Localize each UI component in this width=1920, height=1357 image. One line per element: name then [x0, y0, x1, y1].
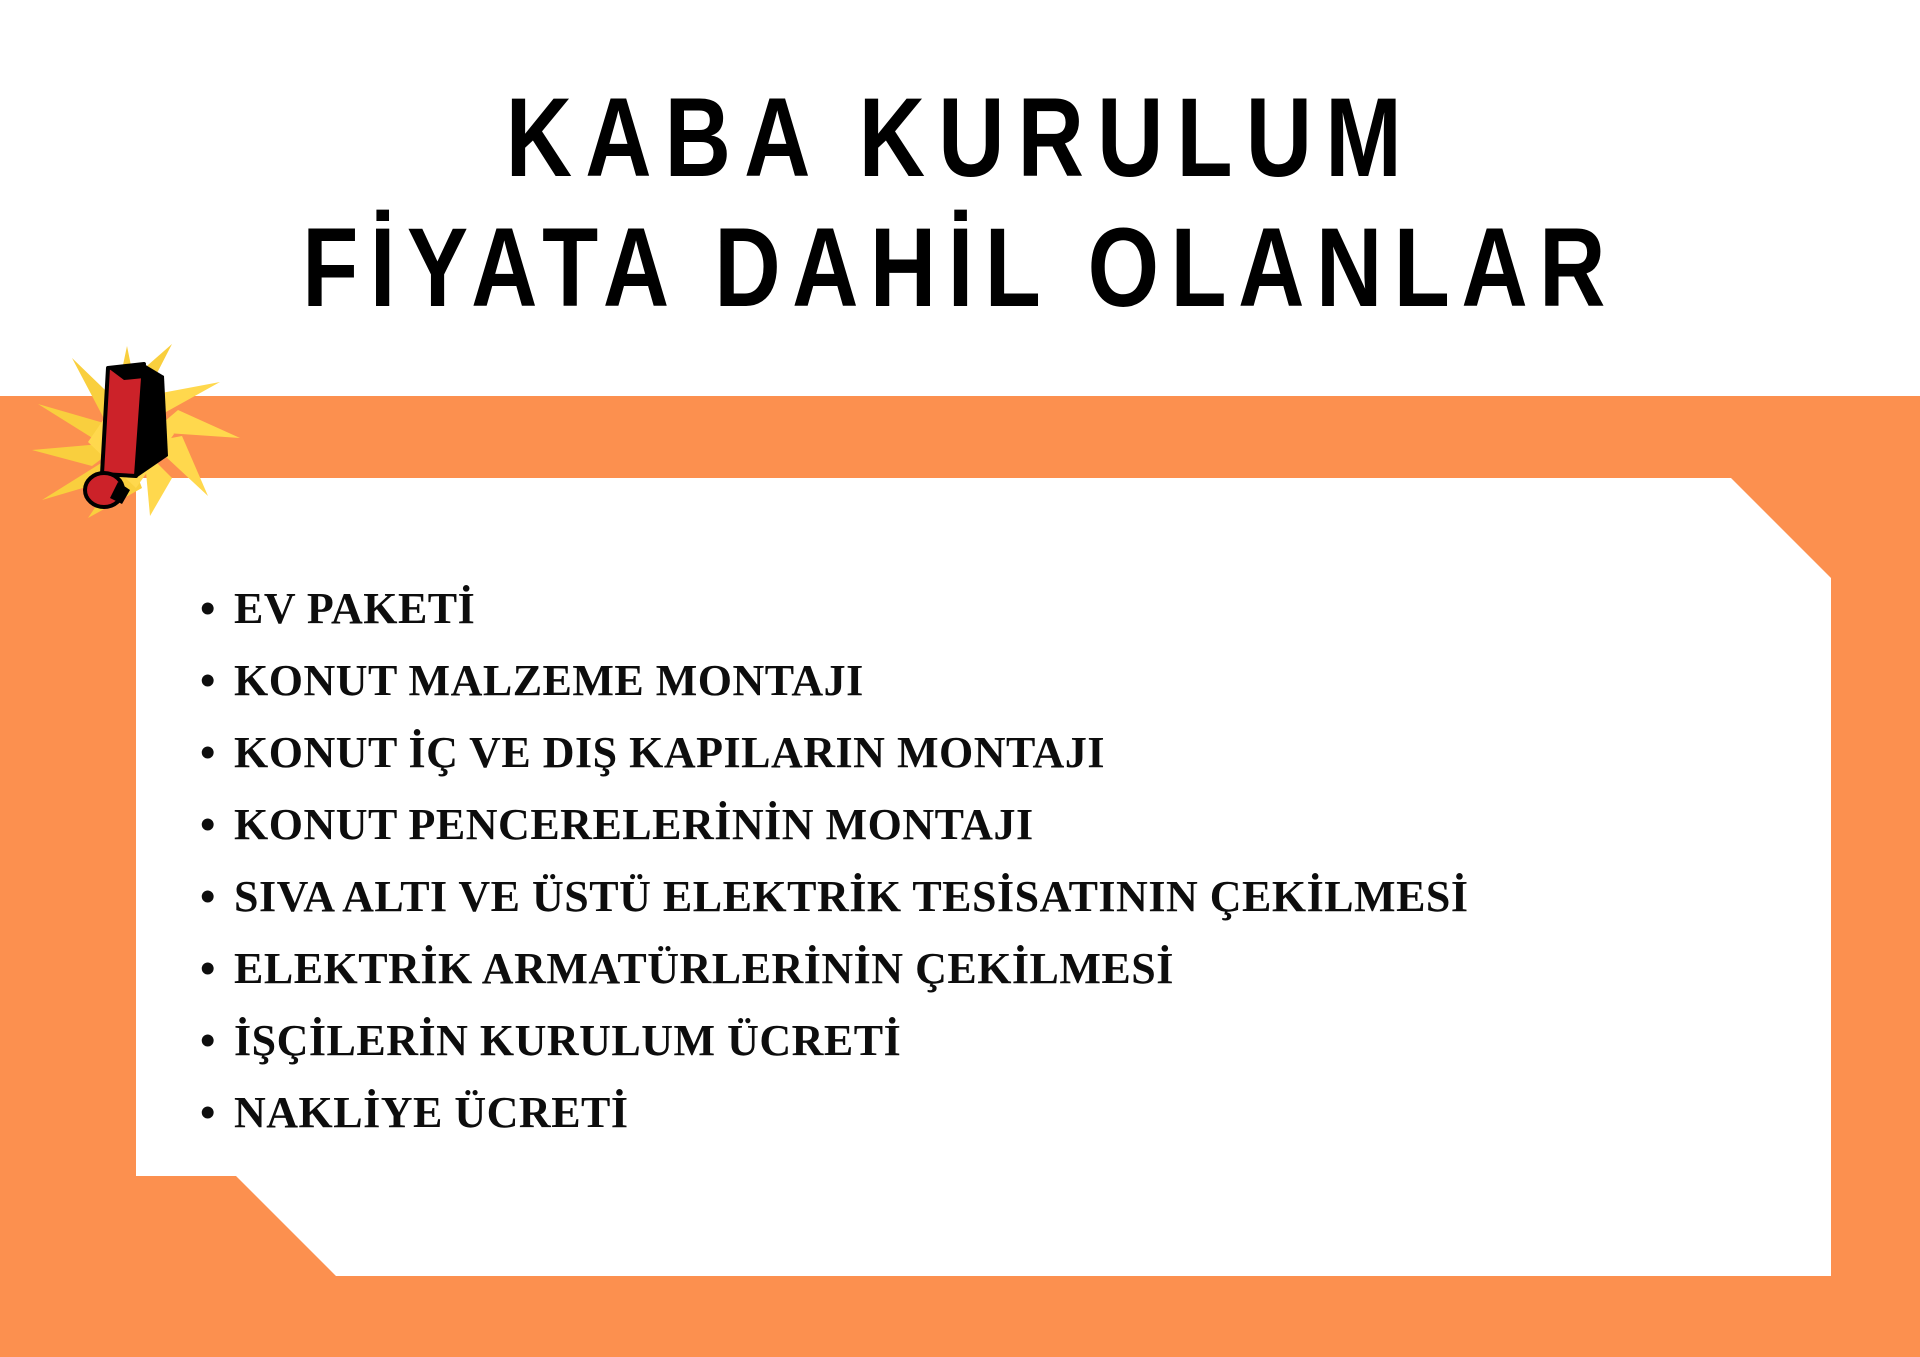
feature-list: • EV PAKETİ • KONUT MALZEME MONTAJI • KO… — [200, 587, 1840, 1163]
bullet-icon: • — [200, 803, 234, 847]
list-item: • EV PAKETİ — [200, 587, 1840, 631]
page-title-line-2: FİYATA DAHİL OLANLAR — [303, 211, 1618, 325]
bullet-icon: • — [200, 1091, 234, 1135]
list-item: • NAKLİYE ÜCRETİ — [200, 1091, 1840, 1135]
slide-root: KABA KURULUM FİYATA DAHİL OLANLAR • EV P… — [0, 0, 1920, 1357]
title-block: KABA KURULUM FİYATA DAHİL OLANLAR — [0, 0, 1920, 396]
list-item-label: ELEKTRİK ARMATÜRLERİNİN ÇEKİLMESİ — [234, 947, 1174, 991]
list-item: • KONUT PENCERELERİNİN MONTAJI — [200, 803, 1840, 847]
list-item-label: KONUT MALZEME MONTAJI — [234, 659, 864, 703]
list-item: • İŞÇİLERİN KURULUM ÜCRETİ — [200, 1019, 1840, 1063]
bullet-icon: • — [200, 1019, 234, 1063]
bullet-icon: • — [200, 731, 234, 775]
list-item-label: İŞÇİLERİN KURULUM ÜCRETİ — [234, 1019, 901, 1063]
list-item: • KONUT MALZEME MONTAJI — [200, 659, 1840, 703]
list-item: • ELEKTRİK ARMATÜRLERİNİN ÇEKİLMESİ — [200, 947, 1840, 991]
list-item: • KONUT İÇ VE DIŞ KAPILARIN MONTAJI — [200, 731, 1840, 775]
page-title-line-1: KABA KURULUM — [505, 81, 1414, 195]
list-item-label: KONUT İÇ VE DIŞ KAPILARIN MONTAJI — [234, 731, 1105, 775]
list-item: • SIVA ALTI VE ÜSTÜ ELEKTRİK TESİSATININ… — [200, 875, 1840, 919]
list-item-label: KONUT PENCERELERİNİN MONTAJI — [234, 803, 1034, 847]
bullet-icon: • — [200, 659, 234, 703]
bullet-icon: • — [200, 875, 234, 919]
bullet-icon: • — [200, 587, 234, 631]
list-item-label: NAKLİYE ÜCRETİ — [234, 1091, 629, 1135]
list-item-label: SIVA ALTI VE ÜSTÜ ELEKTRİK TESİSATININ Ç… — [234, 875, 1469, 919]
list-item-label: EV PAKETİ — [234, 587, 475, 631]
bullet-icon: • — [200, 947, 234, 991]
